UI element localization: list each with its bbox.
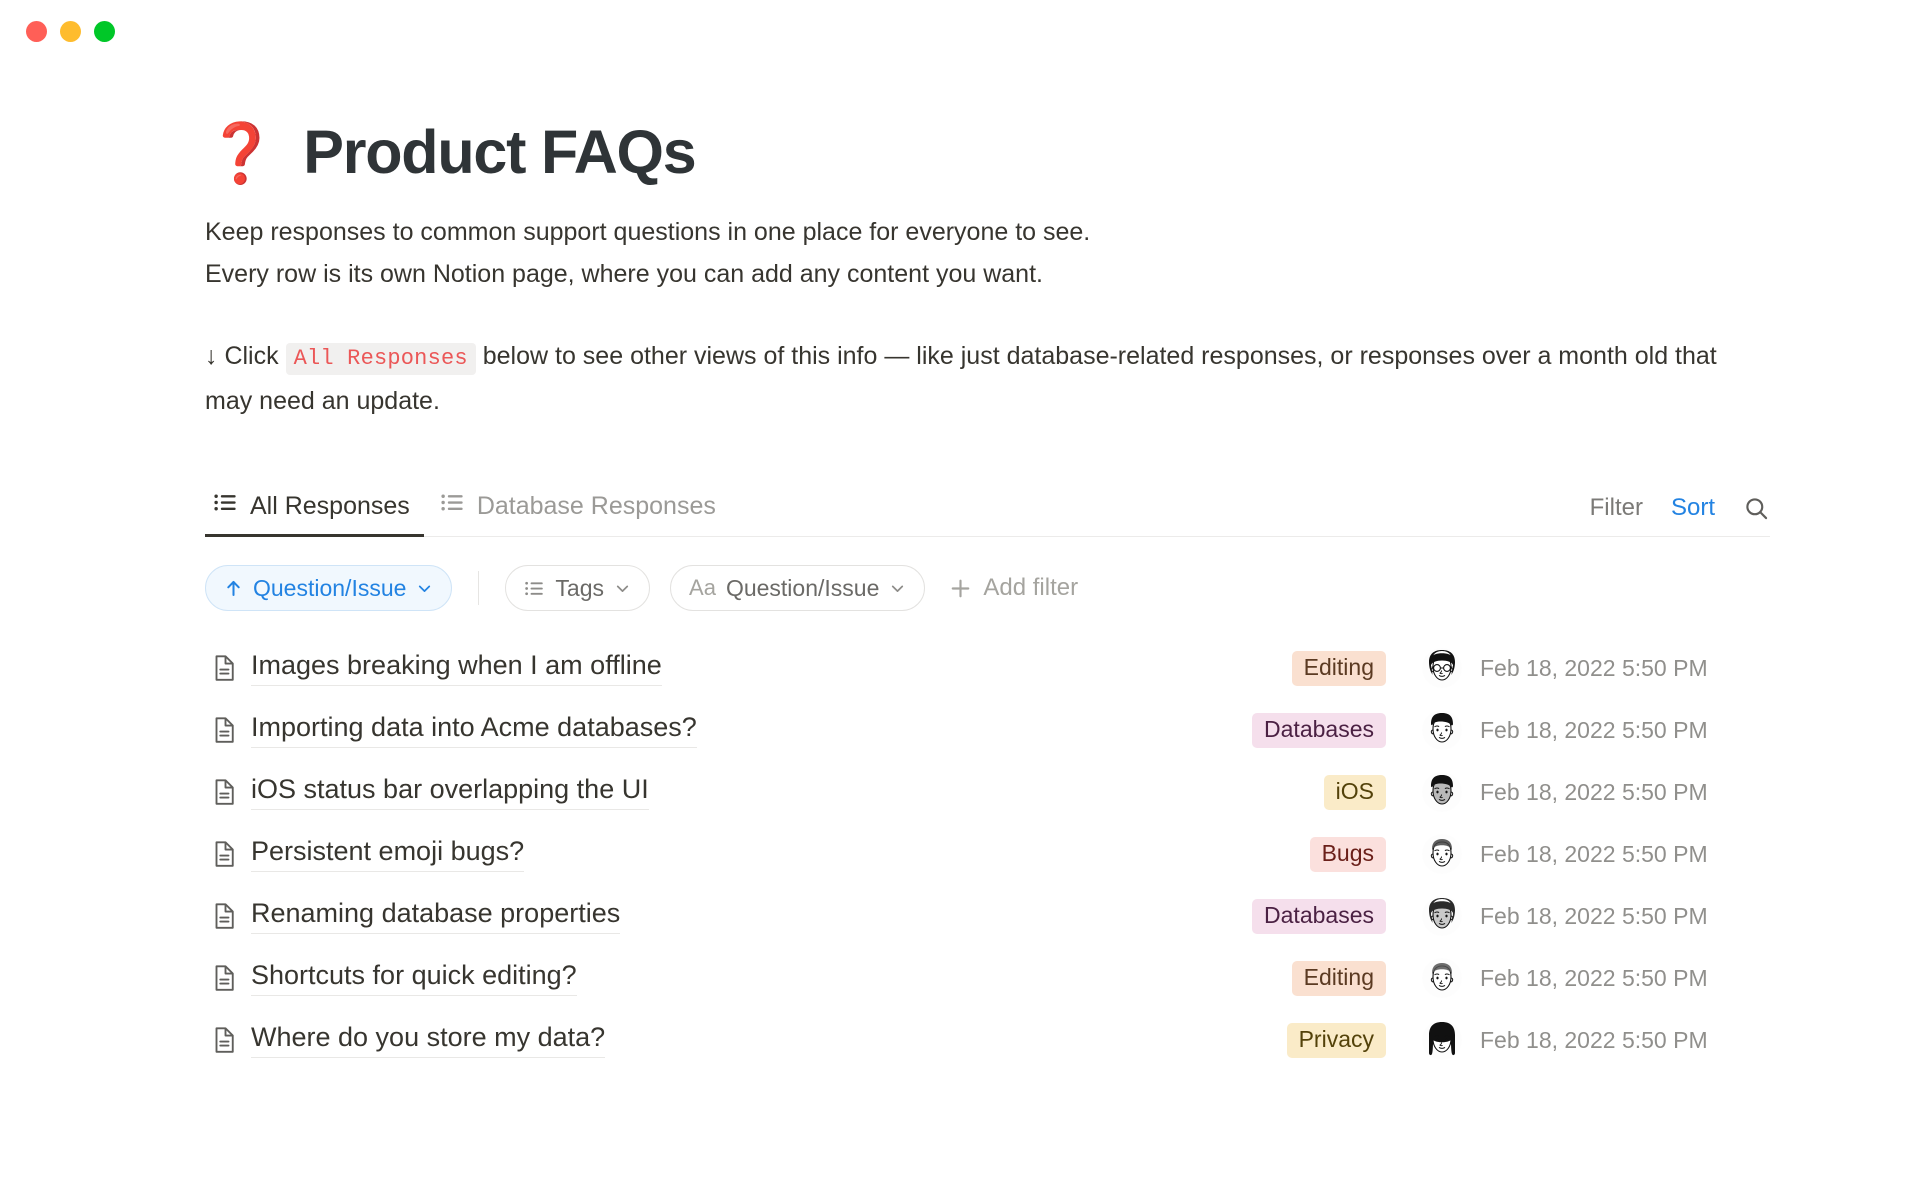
status-badge[interactable]: Editing [1292,961,1386,996]
add-filter-button[interactable]: Add filter [949,574,1078,602]
filter-button[interactable]: Filter [1590,494,1643,522]
tag-cell: Editing [1104,961,1404,996]
tab-database-responses[interactable]: Database Responses [432,484,730,536]
plus-icon [949,577,972,600]
avatar-cell [1404,648,1480,688]
page-icon [205,715,251,745]
status-badge[interactable]: Bugs [1310,837,1386,872]
page-icon [205,1025,251,1055]
row-date: Feb 18, 2022 5:50 PM [1480,717,1770,744]
page-icon [205,653,251,683]
table-row[interactable]: Shortcuts for quick editing? Editing Feb… [205,947,1770,1009]
view-tabs-bar: All Responses Database Responses F [205,484,1770,537]
tag-cell: Databases [1104,899,1404,934]
tab-label: All Responses [250,492,410,521]
view-toolbar: Filter Sort [1590,494,1770,536]
window-titlebar [0,0,1920,62]
chip-label: Question/Issue [253,575,406,602]
view-tabs: All Responses Database Responses [205,484,730,536]
avatar[interactable] [1422,772,1462,812]
row-title[interactable]: Importing data into Acme databases? [251,712,697,748]
status-badge[interactable]: Privacy [1287,1023,1386,1058]
row-date: Feb 18, 2022 5:50 PM [1480,841,1770,868]
add-filter-label: Add filter [983,574,1078,602]
callout-prefix: ↓ Click [205,342,279,370]
description-line-1: Keep responses to common support questio… [205,218,1090,246]
row-title[interactable]: iOS status bar overlapping the UI [251,774,649,810]
avatar[interactable] [1422,648,1462,688]
aa-icon: Aa [689,575,716,601]
table-row[interactable]: Persistent emoji bugs? Bugs Feb 18, 2022… [205,823,1770,885]
chevron-down-icon [416,580,433,597]
table-rows: Images breaking when I am offline Editin… [205,637,1770,1071]
filter-chips-bar: Question/Issue Tags [205,565,1770,611]
row-date: Feb 18, 2022 5:50 PM [1480,655,1770,682]
table-row[interactable]: Images breaking when I am offline Editin… [205,637,1770,699]
page-title[interactable]: Product FAQs [303,117,695,187]
tag-cell: Editing [1104,651,1404,686]
avatar-cell [1404,710,1480,750]
avatar-cell [1404,1020,1480,1060]
window-maximize-button[interactable] [94,21,115,42]
avatar[interactable] [1422,1020,1462,1060]
list-icon [440,490,465,522]
tab-label: Database Responses [477,492,716,521]
table-row[interactable]: Where do you store my data? Privacy Feb … [205,1009,1770,1071]
avatar[interactable] [1422,896,1462,936]
window-minimize-button[interactable] [60,21,81,42]
status-badge[interactable]: Editing [1292,651,1386,686]
page-icon [205,963,251,993]
avatar-cell [1404,958,1480,998]
description-paragraph-2: ↓ Click All Responses below to see other… [205,335,1770,422]
table-row[interactable]: iOS status bar overlapping the UI iOS Fe… [205,761,1770,823]
chip-filter-tags[interactable]: Tags [505,565,650,611]
avatar[interactable] [1422,834,1462,874]
avatar-cell [1404,834,1480,874]
row-title[interactable]: Where do you store my data? [251,1022,605,1058]
chevron-down-icon [614,580,631,597]
row-date: Feb 18, 2022 5:50 PM [1480,903,1770,930]
status-badge[interactable]: iOS [1324,775,1386,810]
avatar[interactable] [1422,710,1462,750]
status-badge[interactable]: Databases [1252,899,1386,934]
avatar[interactable] [1422,958,1462,998]
chip-divider [478,571,479,605]
sort-button[interactable]: Sort [1671,494,1715,522]
description-paragraph-1: Keep responses to common support questio… [205,211,1770,295]
list-icon [524,578,545,599]
page-icon [205,839,251,869]
status-badge[interactable]: Databases [1252,713,1386,748]
tag-cell: Databases [1104,713,1404,748]
page-icon [205,901,251,931]
table-row[interactable]: Importing data into Acme databases? Data… [205,699,1770,761]
tag-cell: Privacy [1104,1023,1404,1058]
table-row[interactable]: Renaming database properties Databases F… [205,885,1770,947]
avatar-cell [1404,772,1480,812]
inline-code-all-responses: All Responses [286,343,476,375]
page-icon [205,777,251,807]
chevron-down-icon [889,580,906,597]
chip-label: Question/Issue [726,575,879,602]
list-icon [213,490,238,522]
window-close-button[interactable] [26,21,47,42]
row-title[interactable]: Renaming database properties [251,898,620,934]
arrow-up-icon [224,579,243,598]
avatar-cell [1404,896,1480,936]
page-header: ❓ Product FAQs [205,117,1770,187]
row-date: Feb 18, 2022 5:50 PM [1480,965,1770,992]
page-content: ❓ Product FAQs Keep responses to common … [0,117,1920,1071]
chip-filter-question-issue[interactable]: Aa Question/Issue [670,565,925,611]
row-title[interactable]: Persistent emoji bugs? [251,836,524,872]
tag-cell: iOS [1104,775,1404,810]
tag-cell: Bugs [1104,837,1404,872]
row-date: Feb 18, 2022 5:50 PM [1480,779,1770,806]
search-icon[interactable] [1743,495,1770,522]
chip-sort-question-issue[interactable]: Question/Issue [205,565,452,611]
row-title[interactable]: Shortcuts for quick editing? [251,960,577,996]
row-date: Feb 18, 2022 5:50 PM [1480,1027,1770,1054]
row-title[interactable]: Images breaking when I am offline [251,650,662,686]
description-line-2: Every row is its own Notion page, where … [205,260,1043,288]
red-question-mark-icon: ❓ [205,124,277,182]
tab-all-responses[interactable]: All Responses [205,484,424,536]
page-description: Keep responses to common support questio… [205,211,1770,422]
chip-label: Tags [555,575,604,602]
